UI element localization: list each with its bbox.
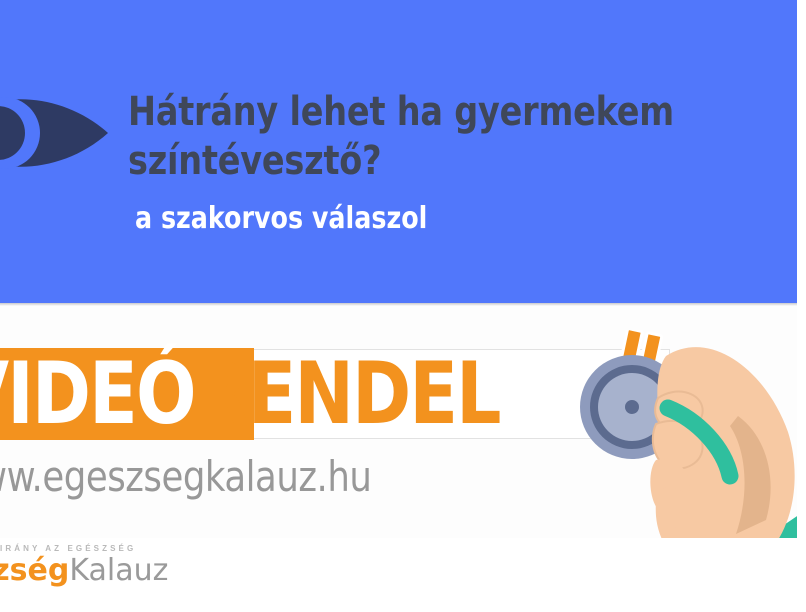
right-edge-strip	[797, 0, 806, 612]
videorendelo-wordmark: VIDEÓRENDEL	[0, 346, 500, 442]
footer: IRÁNY AZ EGÉSZSÉG észségKalauz Benyov	[0, 538, 806, 612]
wordmark-rendel: RENDEL	[195, 344, 500, 444]
site-url[interactable]: ww.egeszsegkalauz.hu	[0, 452, 371, 502]
egeszsegkalauz-logo[interactable]: IRÁNY AZ EGÉSZSÉG észségKalauz	[0, 544, 164, 592]
kalauz-tagline: IRÁNY AZ EGÉSZSÉG	[0, 544, 136, 553]
kalauz-wordmark: észségKalauz	[0, 554, 168, 588]
kalauz-wordmark-orange: észség	[0, 553, 69, 588]
hero-section: Hátrány lehet ha gyermekem színtévesztő?…	[0, 0, 806, 303]
eye-icon	[0, 82, 112, 184]
wordmark-video: VIDEÓ	[0, 344, 195, 444]
page-subtitle: a szakorvos válaszol	[135, 200, 718, 238]
kalauz-wordmark-gray: Kalauz	[69, 553, 168, 588]
page-title: Hátrány lehet ha gyermekem színtévesztő?	[128, 88, 723, 186]
promo-banner: Hátrány lehet ha gyermekem színtévesztő?…	[0, 0, 806, 612]
